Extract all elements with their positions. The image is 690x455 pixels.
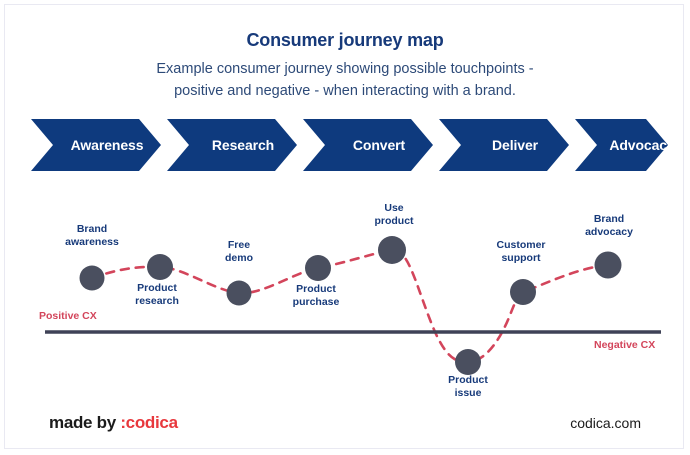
touchpoint-label-line2: issue — [448, 387, 488, 400]
touchpoint-label-customer-support: Customer support — [496, 239, 545, 265]
touchpoint-dot-brand-advocacy[interactable] — [595, 252, 622, 279]
subtitle-line-1: Example consumer journey showing possibl… — [5, 58, 685, 80]
page-title: Consumer journey map — [5, 30, 685, 51]
journey-curve-chart: Brand awareness Product research Free de… — [5, 180, 685, 410]
journey-stage-bar: Awareness Research Convert Deliver Advoc… — [31, 119, 671, 171]
page-subtitle: Example consumer journey showing possibl… — [5, 58, 685, 102]
journey-chart-svg — [5, 180, 685, 410]
touchpoint-label-product-purchase: Product purchase — [293, 283, 340, 309]
footer: made by :codica codica.com — [5, 413, 685, 449]
touchpoint-label-line2: advocacy — [585, 226, 633, 239]
touchpoint-label-line2: research — [135, 295, 179, 308]
stage-chevron-deliver[interactable] — [439, 119, 569, 171]
touchpoint-label-free-demo: Free demo — [225, 239, 253, 265]
touchpoint-label-product-issue: Product issue — [448, 374, 488, 400]
codica-brand-mark: :codica — [120, 413, 177, 432]
touchpoint-dot-product-purchase[interactable] — [305, 255, 331, 281]
touchpoint-dot-customer-support[interactable] — [510, 279, 536, 305]
touchpoint-label-line1: Product — [293, 283, 340, 296]
touchpoint-label-line1: Brand — [65, 223, 119, 236]
made-by-text: made by — [49, 413, 116, 432]
stage-chevron-convert[interactable] — [303, 119, 433, 171]
touchpoint-label-brand-awareness: Brand awareness — [65, 223, 119, 249]
touchpoint-dot-free-demo[interactable] — [227, 281, 252, 306]
codica-website-link[interactable]: codica.com — [570, 415, 641, 431]
touchpoint-label-line1: Product — [448, 374, 488, 387]
subtitle-line-2: positive and negative - when interacting… — [5, 80, 685, 102]
touchpoint-label-line2: demo — [225, 252, 253, 265]
touchpoint-label-use-product: Use product — [374, 202, 413, 228]
stage-chevrons — [31, 119, 671, 171]
touchpoint-label-product-research: Product research — [135, 282, 179, 308]
touchpoint-label-line2: support — [496, 252, 545, 265]
touchpoint-dot-brand-awareness[interactable] — [80, 266, 105, 291]
touchpoint-label-line1: Customer — [496, 239, 545, 252]
touchpoint-label-line1: Use — [374, 202, 413, 215]
stage-chevron-advocacy[interactable] — [575, 119, 668, 171]
touchpoint-label-line2: product — [374, 215, 413, 228]
touchpoint-label-line2: awareness — [65, 236, 119, 249]
stage-chevron-awareness[interactable] — [31, 119, 161, 171]
touchpoint-dot-product-issue[interactable] — [455, 349, 481, 375]
infographic-card: Consumer journey map Example consumer jo… — [4, 4, 684, 449]
touchpoint-label-brand-advocacy: Brand advocacy — [585, 213, 633, 239]
touchpoint-label-line1: Free — [225, 239, 253, 252]
touchpoint-dot-product-research[interactable] — [147, 254, 173, 280]
touchpoint-label-line1: Product — [135, 282, 179, 295]
made-by-codica-logo[interactable]: made by :codica — [49, 413, 178, 433]
touchpoint-dot-use-product[interactable] — [378, 236, 406, 264]
touchpoint-label-line1: Brand — [585, 213, 633, 226]
touchpoint-label-line2: purchase — [293, 296, 340, 309]
positive-cx-label: Positive CX — [39, 310, 97, 322]
stage-chevron-research[interactable] — [167, 119, 297, 171]
negative-cx-label: Negative CX — [594, 339, 655, 351]
